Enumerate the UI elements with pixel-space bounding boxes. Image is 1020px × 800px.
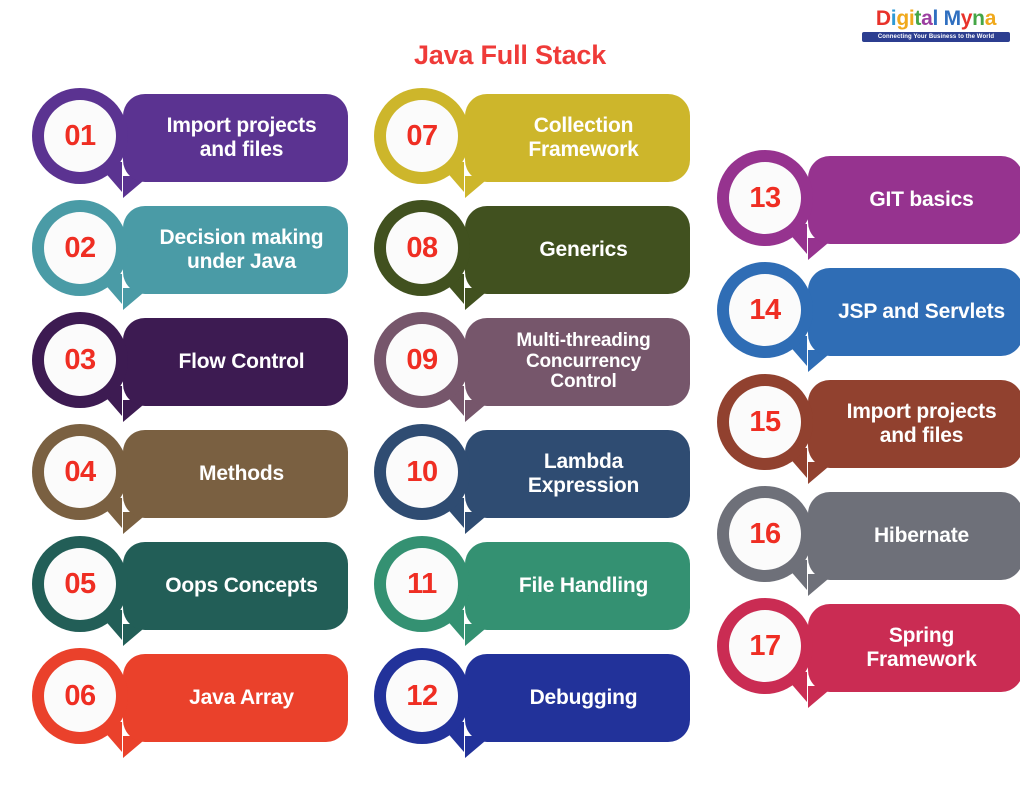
logo-letter: D bbox=[876, 8, 891, 29]
topic-column-2: Collection Framework07Generics08Multi-th… bbox=[360, 88, 690, 760]
topic-number-badge[interactable]: 05 bbox=[32, 536, 128, 632]
topic-item[interactable]: File Handling11 bbox=[360, 536, 690, 648]
topic-label: Import projects and files bbox=[847, 400, 997, 447]
topic-number: 07 bbox=[406, 120, 437, 153]
topic-label: Hibernate bbox=[874, 524, 969, 548]
topic-item[interactable]: Generics08 bbox=[360, 200, 690, 312]
badge-inner: 17 bbox=[729, 610, 801, 682]
logo-letter: g bbox=[896, 8, 909, 29]
topic-label: Methods bbox=[199, 462, 284, 486]
topic-number: 06 bbox=[64, 680, 95, 713]
badge-inner: 03 bbox=[44, 324, 116, 396]
topic-number-badge[interactable]: 12 bbox=[374, 648, 470, 744]
badge-inner: 13 bbox=[729, 162, 801, 234]
topic-bar[interactable]: Import projects and files bbox=[808, 380, 1020, 468]
topic-item[interactable]: JSP and Servlets14 bbox=[703, 262, 1020, 374]
badge-inner: 16 bbox=[729, 498, 801, 570]
topic-bar[interactable]: Spring Framework bbox=[808, 604, 1020, 692]
topic-label: GIT basics bbox=[869, 188, 973, 212]
page-title: Java Full Stack bbox=[0, 40, 1020, 71]
topic-bar[interactable]: Methods bbox=[123, 430, 348, 518]
topic-column-3: GIT basics13JSP and Servlets14Import pro… bbox=[703, 150, 1020, 710]
topic-number-badge[interactable]: 07 bbox=[374, 88, 470, 184]
topic-item[interactable]: Lambda Expression10 bbox=[360, 424, 690, 536]
badge-inner: 10 bbox=[386, 436, 458, 508]
topic-item[interactable]: Decision making under Java02 bbox=[18, 200, 348, 312]
topic-bar[interactable]: Collection Framework bbox=[465, 94, 690, 182]
topic-item[interactable]: Methods04 bbox=[18, 424, 348, 536]
topic-bar[interactable]: Hibernate bbox=[808, 492, 1020, 580]
badge-inner: 12 bbox=[386, 660, 458, 732]
topic-item[interactable]: Hibernate16 bbox=[703, 486, 1020, 598]
topic-bar[interactable]: Lambda Expression bbox=[465, 430, 690, 518]
topic-label: Lambda Expression bbox=[528, 450, 639, 497]
topic-number-badge[interactable]: 14 bbox=[717, 262, 813, 358]
topic-number: 14 bbox=[749, 294, 780, 327]
topic-number: 05 bbox=[64, 568, 95, 601]
logo-letter: a bbox=[985, 8, 996, 29]
topic-item[interactable]: Multi-threading Concurrency Control09 bbox=[360, 312, 690, 424]
topic-label: File Handling bbox=[519, 574, 648, 598]
topic-number: 13 bbox=[749, 182, 780, 215]
badge-inner: 06 bbox=[44, 660, 116, 732]
badge-inner: 11 bbox=[386, 548, 458, 620]
topic-label: JSP and Servlets bbox=[838, 300, 1005, 324]
topic-number: 11 bbox=[407, 568, 437, 601]
topic-bar[interactable]: Oops Concepts bbox=[123, 542, 348, 630]
topic-number-badge[interactable]: 03 bbox=[32, 312, 128, 408]
topic-number: 10 bbox=[406, 456, 437, 489]
topic-bar[interactable]: File Handling bbox=[465, 542, 690, 630]
topic-bar[interactable]: Flow Control bbox=[123, 318, 348, 406]
badge-inner: 08 bbox=[386, 212, 458, 284]
badge-inner: 15 bbox=[729, 386, 801, 458]
topic-item[interactable]: Java Array06 bbox=[18, 648, 348, 760]
topic-bar[interactable]: JSP and Servlets bbox=[808, 268, 1020, 356]
logo-letter: y bbox=[961, 8, 972, 29]
topic-bar[interactable]: Multi-threading Concurrency Control bbox=[465, 318, 690, 406]
topic-number-badge[interactable]: 16 bbox=[717, 486, 813, 582]
topic-number: 08 bbox=[406, 232, 437, 265]
logo-letter: M bbox=[944, 8, 961, 29]
topic-number-badge[interactable]: 06 bbox=[32, 648, 128, 744]
topic-label: Decision making under Java bbox=[160, 226, 324, 273]
logo-letter: n bbox=[972, 8, 985, 29]
topic-item[interactable]: Debugging12 bbox=[360, 648, 690, 760]
topic-item[interactable]: Oops Concepts05 bbox=[18, 536, 348, 648]
topic-number-badge[interactable]: 15 bbox=[717, 374, 813, 470]
topic-label: Collection Framework bbox=[528, 114, 638, 161]
topic-label: Spring Framework bbox=[866, 624, 976, 671]
topic-number: 09 bbox=[406, 344, 437, 377]
brand-logo: Digital Myna Connecting Your Business to… bbox=[862, 8, 1010, 42]
topic-number-badge[interactable]: 17 bbox=[717, 598, 813, 694]
topic-bar[interactable]: Debugging bbox=[465, 654, 690, 742]
badge-inner: 09 bbox=[386, 324, 458, 396]
badge-inner: 02 bbox=[44, 212, 116, 284]
topic-number-badge[interactable]: 09 bbox=[374, 312, 470, 408]
topic-item[interactable]: Import projects and files01 bbox=[18, 88, 348, 200]
topic-label: Debugging bbox=[530, 686, 638, 710]
topic-number: 03 bbox=[64, 344, 95, 377]
topic-number-badge[interactable]: 01 bbox=[32, 88, 128, 184]
topic-label: Flow Control bbox=[179, 350, 305, 374]
topic-bar[interactable]: Import projects and files bbox=[123, 94, 348, 182]
topic-label: Oops Concepts bbox=[165, 574, 318, 598]
topic-item[interactable]: Import projects and files15 bbox=[703, 374, 1020, 486]
topic-number-badge[interactable]: 04 bbox=[32, 424, 128, 520]
topic-number: 15 bbox=[749, 406, 780, 439]
topic-bar[interactable]: GIT basics bbox=[808, 156, 1020, 244]
topic-number-badge[interactable]: 10 bbox=[374, 424, 470, 520]
badge-inner: 14 bbox=[729, 274, 801, 346]
logo-wordmark: Digital Myna bbox=[862, 8, 1010, 29]
topic-label: Import projects and files bbox=[167, 114, 317, 161]
badge-inner: 05 bbox=[44, 548, 116, 620]
topic-number: 16 bbox=[749, 518, 780, 551]
logo-letter: t bbox=[914, 8, 921, 29]
topic-item[interactable]: GIT basics13 bbox=[703, 150, 1020, 262]
topic-number: 01 bbox=[64, 120, 95, 153]
topic-number: 17 bbox=[749, 630, 780, 663]
topic-item[interactable]: Collection Framework07 bbox=[360, 88, 690, 200]
topic-label: Multi-threading Concurrency Control bbox=[516, 331, 650, 394]
topic-bar[interactable]: Generics bbox=[465, 206, 690, 294]
badge-inner: 04 bbox=[44, 436, 116, 508]
topic-number-badge[interactable]: 11 bbox=[374, 536, 470, 632]
topic-bar[interactable]: Decision making under Java bbox=[123, 206, 348, 294]
topic-number-badge[interactable]: 13 bbox=[717, 150, 813, 246]
topic-item[interactable]: Flow Control03 bbox=[18, 312, 348, 424]
topic-column-1: Import projects and files01Decision maki… bbox=[18, 88, 348, 760]
topic-number-badge[interactable]: 08 bbox=[374, 200, 470, 296]
topic-item[interactable]: Spring Framework17 bbox=[703, 598, 1020, 710]
logo-letter: a bbox=[921, 8, 932, 29]
topic-label: Java Array bbox=[189, 686, 294, 710]
badge-inner: 07 bbox=[386, 100, 458, 172]
badge-inner: 01 bbox=[44, 100, 116, 172]
topic-number: 12 bbox=[406, 680, 437, 713]
topic-number: 04 bbox=[64, 456, 95, 489]
topic-number: 02 bbox=[64, 232, 95, 265]
topic-bar[interactable]: Java Array bbox=[123, 654, 348, 742]
topic-label: Generics bbox=[539, 238, 627, 262]
topic-number-badge[interactable]: 02 bbox=[32, 200, 128, 296]
